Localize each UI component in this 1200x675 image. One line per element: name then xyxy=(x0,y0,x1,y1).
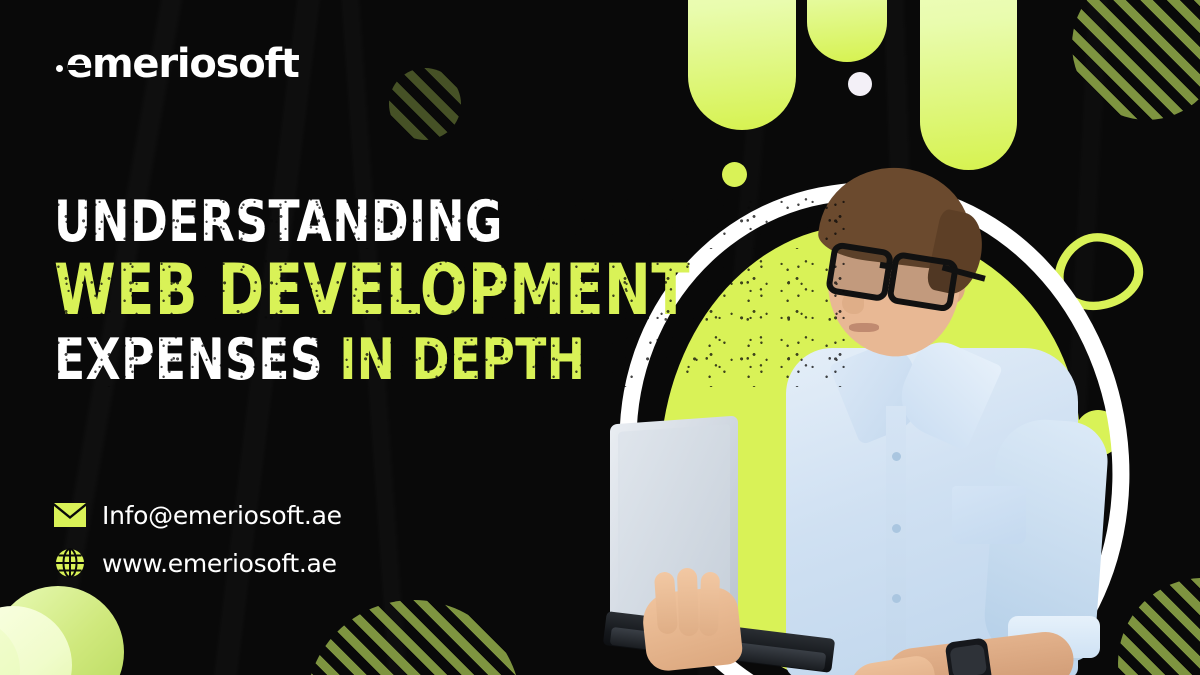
watch-face xyxy=(949,644,987,675)
contact-email-text: Info@emeriosoft.ae xyxy=(102,501,342,530)
pill-small-middle xyxy=(807,0,887,62)
headline-line-1: UNDERSTANDING xyxy=(54,196,690,249)
pill-large-left xyxy=(688,0,796,130)
envelope-icon xyxy=(54,500,86,530)
headline-line-3-lime: IN DEPTH xyxy=(339,327,585,393)
headline-line-1-wrap: UNDERSTANDING xyxy=(54,196,849,249)
logo-dot-icon xyxy=(56,65,63,72)
headline-line-3-wrap: EXPENSES IN DEPTH xyxy=(54,334,849,387)
striped-circle-bottom xyxy=(306,600,521,675)
shirt-button xyxy=(892,594,901,603)
lips xyxy=(849,323,879,332)
contact-block: Info@emeriosoft.ae www.emeriosoft.ae xyxy=(54,500,342,596)
headline-line-3-white: EXPENSES xyxy=(54,327,323,393)
finger xyxy=(654,571,678,634)
contact-website-text: www.emeriosoft.ae xyxy=(102,549,337,578)
headline-line-2: WEB DEVELOPMENT xyxy=(54,258,690,323)
globe-icon xyxy=(54,548,86,578)
contact-email-row[interactable]: Info@emeriosoft.ae xyxy=(54,500,342,530)
headline-line-3: EXPENSES IN DEPTH xyxy=(54,334,690,387)
striped-circle-middle xyxy=(389,68,461,140)
wristwatch xyxy=(945,637,994,675)
shirt-placket xyxy=(886,406,906,668)
logo[interactable]: emeriosoft xyxy=(56,44,299,84)
shirt-pocket xyxy=(952,486,1026,544)
finger xyxy=(699,572,720,637)
shirt-button xyxy=(892,452,901,461)
shirt-button xyxy=(892,524,901,533)
headline-block: UNDERSTANDING WEB DEVELOPMENT EXPENSES I… xyxy=(54,196,849,387)
contact-website-row[interactable]: www.emeriosoft.ae xyxy=(54,548,342,578)
white-dot xyxy=(848,72,872,96)
striped-circle-top-right xyxy=(1072,0,1200,120)
marketing-banner: emeriosoft UNDERSTANDING WEB DEVELOPMENT… xyxy=(0,0,1200,675)
glasses-lens-right xyxy=(886,251,959,313)
headline-line-2-wrap: WEB DEVELOPMENT xyxy=(54,258,849,323)
logo-text: emeriosoft xyxy=(66,44,299,84)
finger xyxy=(677,568,699,637)
